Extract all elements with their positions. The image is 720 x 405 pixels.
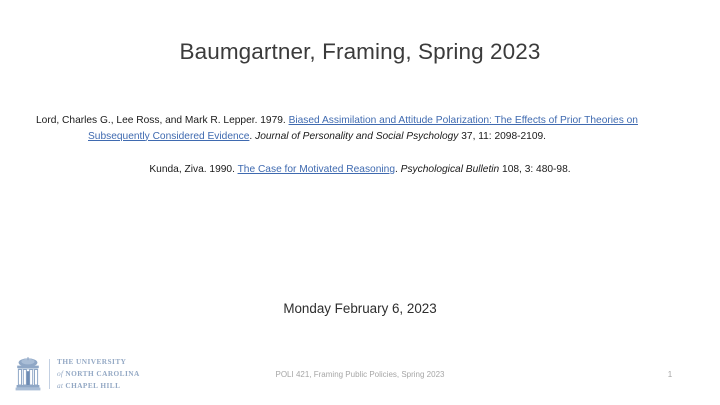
wordmark-line-1: The University — [57, 356, 140, 368]
citation-locator: 108, 3: 480-98. — [499, 164, 570, 175]
citation-authors-year: Lord, Charles G., Lee Ross, and Mark R. … — [36, 115, 289, 126]
citation-list: Lord, Charles G., Lee Ross, and Mark R. … — [36, 113, 684, 178]
footer-course-text: POLI 421, Framing Public Policies, Sprin… — [0, 370, 720, 379]
wordmark-line-3: at Chapel Hill — [57, 380, 140, 392]
citation-link-kunda-1990[interactable]: The Case for Motivated Reasoning — [238, 164, 395, 175]
slide-footer: The University of North Carolina at Chap… — [0, 349, 720, 405]
citation-journal: Journal of Personality and Social Psycho… — [255, 131, 458, 142]
wordmark-line-3-prefix: at — [57, 381, 63, 390]
citation-kunda-1990: Kunda, Ziva. 1990. The Case for Motivate… — [36, 162, 684, 178]
slide-date: Monday February 6, 2023 — [0, 301, 720, 316]
citation-spacer — [36, 144, 684, 162]
citation-authors-year: Kunda, Ziva. 1990. — [149, 164, 237, 175]
footer-page-number: 1 — [620, 370, 720, 379]
slide-canvas: Baumgartner, Framing, Spring 2023 Lord, … — [0, 0, 720, 405]
wordmark-line-3-text: Chapel Hill — [65, 381, 120, 390]
citation-locator: 37, 11: 2098-2109. — [458, 131, 546, 142]
citation-lord-1979: Lord, Charles G., Lee Ross, and Mark R. … — [0, 113, 684, 144]
page-title: Baumgartner, Framing, Spring 2023 — [0, 38, 720, 65]
citation-journal: Psychological Bulletin — [401, 164, 500, 175]
